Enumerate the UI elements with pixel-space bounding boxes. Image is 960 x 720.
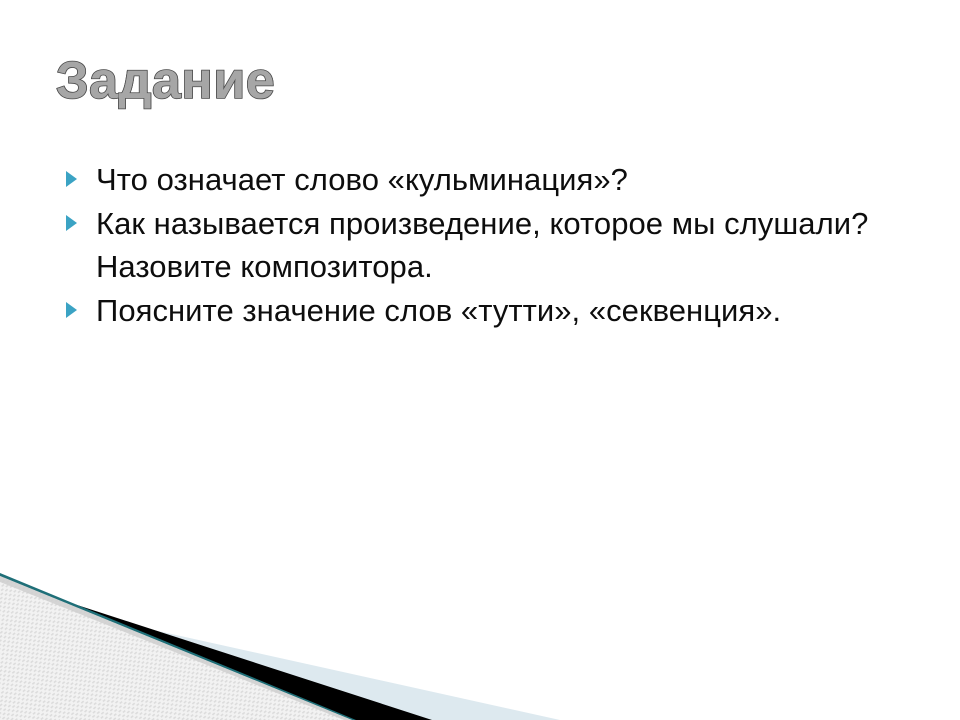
list-item-text: Поясните значение слов «тутти», «секвенц…: [96, 289, 898, 332]
texture-triangle-shape: [0, 576, 352, 720]
triangle-right-bullet-icon: [66, 215, 77, 231]
triangle-right-bullet-icon: [66, 171, 77, 187]
black-band-shape: [0, 580, 432, 720]
page-title: Задание: [56, 52, 896, 110]
triangle-right-bullet-icon: [66, 302, 77, 318]
pale-band-shape: [0, 596, 560, 720]
texture-triangle-edge: [0, 576, 352, 720]
bullet-list: Что означает слово «кульминация»? Как на…: [62, 158, 898, 333]
list-item: Что означает слово «кульминация»?: [62, 158, 898, 201]
teal-line-shape: [0, 573, 356, 720]
angles-corner-graphic: [0, 560, 960, 720]
list-item-text: Что означает слово «кульминация»?: [96, 158, 898, 201]
list-item: Поясните значение слов «тутти», «секвенц…: [62, 289, 898, 332]
slide: Задание Что означает слово «кульминация»…: [0, 0, 960, 720]
list-item: Как называется произведение, которое мы …: [62, 202, 898, 288]
list-item-text: Как называется произведение, которое мы …: [96, 202, 898, 288]
